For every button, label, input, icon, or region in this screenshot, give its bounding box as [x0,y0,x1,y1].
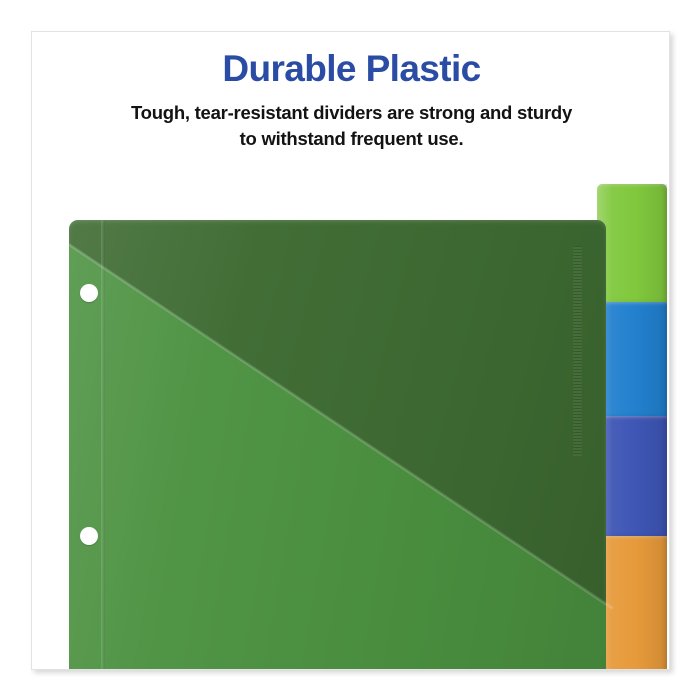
divider-tab-stack [597,158,670,670]
orange-tab [597,536,667,670]
product-description-line-2: to withstand frequent use. [32,126,670,152]
product-card: Durable Plastic Tough, tear-resistant di… [31,31,670,670]
bottom-punch-hole [80,527,98,545]
divider-spine [101,220,105,670]
product-image-stage: Durable Plastic Tough, tear-resistant di… [0,0,700,700]
indigo-blue-tab [597,416,667,536]
product-photo [32,158,670,670]
pocket-rib-texture [573,246,582,456]
azure-blue-tab [597,302,667,416]
product-description-line-1: Tough, tear-resistant dividers are stron… [32,100,670,126]
top-punch-hole [80,284,98,302]
lime-green-tab [597,184,667,302]
page-title: Durable Plastic [32,50,670,89]
product-description: Tough, tear-resistant dividers are stron… [32,100,670,153]
